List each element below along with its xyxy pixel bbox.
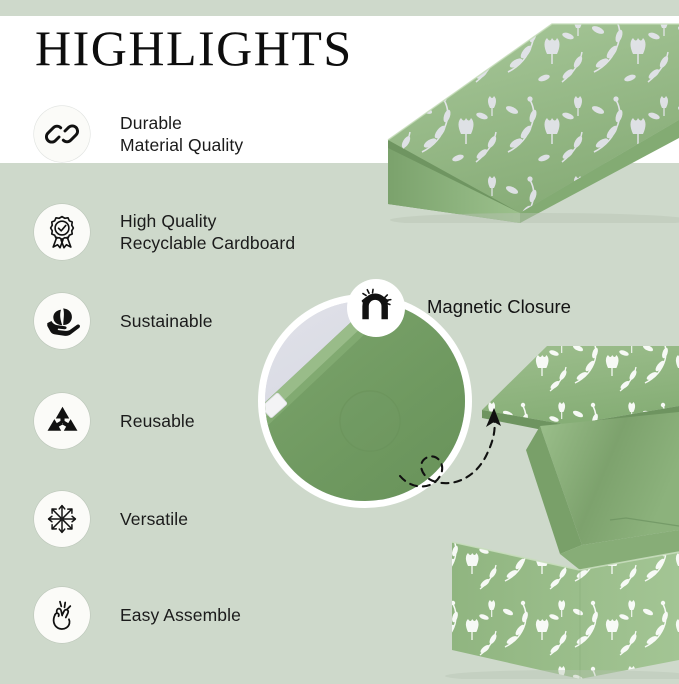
feature-label: Easy Assemble [120,604,241,626]
four-way-arrows-icon [34,491,90,547]
feature-item-high-quality: High Quality Recyclable Cardboard [34,204,295,260]
page-title: HIGHLIGHTS [35,23,353,73]
feature-item-durable: Durable Material Quality [34,106,243,162]
chain-link-icon [34,106,90,162]
feature-item-versatile: Versatile [34,491,188,547]
closed-gift-box-image [330,8,679,223]
feature-label: Sustainable [120,310,213,332]
feature-label: Durable Material Quality [120,112,243,157]
feature-item-sustainable: Sustainable [34,293,213,349]
feature-label: Versatile [120,508,188,530]
infographic-canvas: Durable Material Quality High Quality Re… [0,0,679,679]
dashed-pointer-arrow [398,398,578,528]
feature-label: Reusable [120,410,195,432]
feature-item-easy-assemble: Easy Assemble [34,587,241,643]
award-ribbon-icon [34,204,90,260]
magnetic-closure-label: Magnetic Closure [427,296,571,318]
feature-label: High Quality Recyclable Cardboard [120,210,295,255]
feature-item-reusable: Reusable [34,393,195,449]
horseshoe-magnet-icon [347,279,405,337]
finger-snap-icon [34,587,90,643]
recycle-icon [34,393,90,449]
hand-holding-leaf-icon [34,293,90,349]
